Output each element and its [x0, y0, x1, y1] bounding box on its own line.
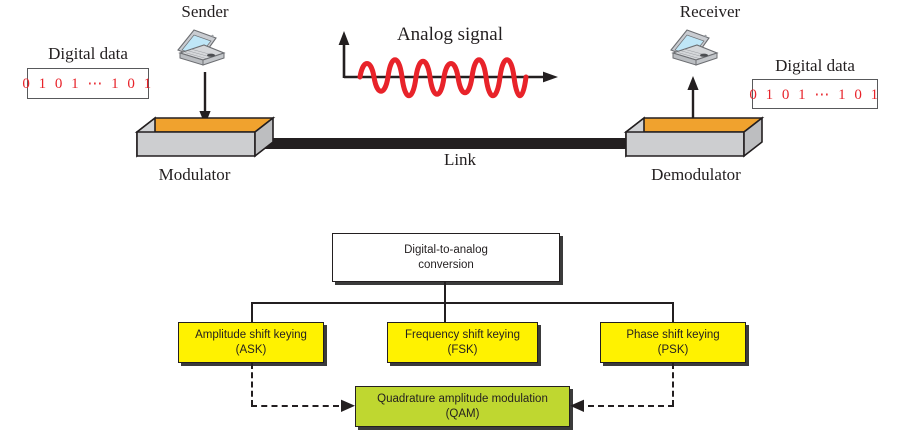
link-cable: [250, 138, 670, 149]
dashed-connector-psk-vertical: [672, 363, 674, 406]
dashed-connector-psk-horizontal: [588, 405, 674, 407]
flowchart-box-ask[interactable]: Amplitude shift keying (ASK): [178, 322, 324, 363]
right-digital-data-bits: 0 1 0 1 ⋯ 1 0 1: [749, 85, 880, 104]
connector-bus-to-ask: [251, 302, 253, 323]
connector-bus-horizontal: [251, 302, 674, 304]
right-digital-data-label: Digital data: [752, 56, 878, 76]
ask-line1: Amplitude shift keying: [195, 328, 307, 342]
flowchart-box-psk[interactable]: Phase shift keying (PSK): [600, 322, 746, 363]
arrow-left-icon-psk-to-qam: [569, 398, 591, 414]
right-digital-data-box: 0 1 0 1 ⋯ 1 0 1: [752, 79, 878, 109]
arrow-right-icon-ask-to-qam: [334, 398, 356, 414]
flowchart-box-fsk[interactable]: Frequency shift keying (FSK): [387, 322, 538, 363]
fsk-line1: Frequency shift keying: [405, 328, 520, 342]
left-digital-data-box: 0 1 0 1 ⋯ 1 0 1: [27, 68, 149, 99]
fsk-line2: (FSK): [405, 343, 520, 357]
receiver-label: Receiver: [650, 2, 770, 22]
dashed-connector-ask-horizontal: [251, 405, 339, 407]
left-digital-data-bits: 0 1 0 1 ⋯ 1 0 1: [22, 74, 153, 93]
flowchart-root-box[interactable]: Digital-to-analog conversion: [332, 233, 560, 282]
modulator-label: Modulator: [132, 165, 257, 185]
connector-bus-to-psk: [672, 302, 674, 323]
diagram-canvas: Sender Di: [0, 0, 898, 436]
analog-signal-waveform: [330, 26, 562, 114]
demodulator-label: Demodulator: [622, 165, 770, 185]
left-digital-data-label: Digital data: [27, 44, 149, 64]
psk-line1: Phase shift keying: [626, 328, 719, 342]
qam-line1: Quadrature amplitude modulation: [377, 392, 548, 406]
flowchart-root-line1: Digital-to-analog: [404, 243, 488, 257]
dashed-connector-ask-vertical: [251, 363, 253, 406]
flowchart-box-qam[interactable]: Quadrature amplitude modulation (QAM): [355, 386, 570, 427]
link-label: Link: [405, 150, 515, 170]
sender-label: Sender: [150, 2, 260, 22]
ask-line2: (ASK): [195, 343, 307, 357]
flowchart-root-line2: conversion: [404, 258, 488, 272]
qam-line2: (QAM): [377, 407, 548, 421]
psk-line2: (PSK): [626, 343, 719, 357]
